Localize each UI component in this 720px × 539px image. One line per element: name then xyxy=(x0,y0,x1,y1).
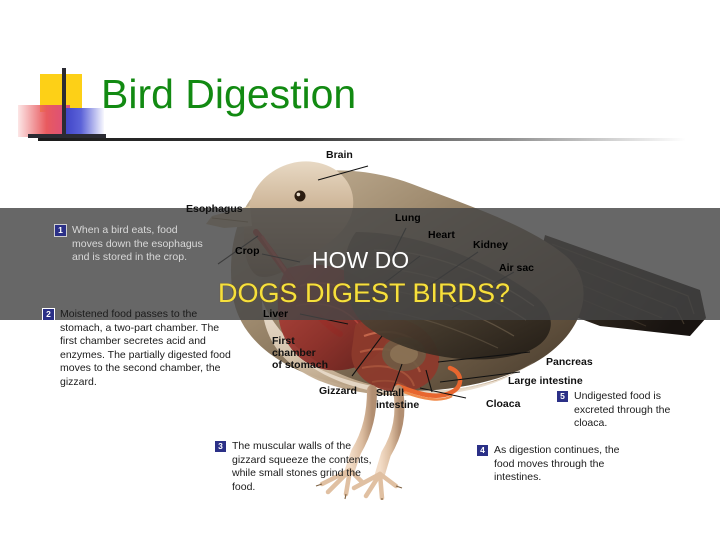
anatomy-label-heart: Heart xyxy=(428,229,455,241)
step-text-3: The muscular walls of the gizzard squeez… xyxy=(232,440,374,494)
step-text-5: Undigested food is excreted through the … xyxy=(574,390,696,431)
anatomy-label-esophagus: Esophagus xyxy=(186,203,243,215)
anatomy-label-air-sac: Air sac xyxy=(499,262,534,274)
anatomy-label-kidney: Kidney xyxy=(473,239,508,251)
anatomy-label-cloaca: Cloaca xyxy=(486,398,520,410)
step-number-badge-3: 3 xyxy=(214,440,227,453)
anatomy-label-liver: Liver xyxy=(263,308,288,320)
overlay-headline-line2: DOGS DIGEST BIRDS? xyxy=(218,278,510,308)
anatomy-label-first-chamber-of-stomach: First chamber of stomach xyxy=(272,335,328,371)
step-number-badge-1: 1 xyxy=(54,224,67,237)
anatomy-label-large-intestine: Large intestine xyxy=(508,375,583,387)
anatomy-label-lung: Lung xyxy=(395,212,421,224)
step-text-2: Moistened food passes to the stomach, a … xyxy=(60,308,232,389)
anatomy-label-gizzard: Gizzard xyxy=(319,385,357,397)
overlay-headline-line1: HOW DO xyxy=(312,247,409,273)
logo-vertical-line xyxy=(62,68,66,140)
step-item-2: 2 Moistened food passes to the stomach, … xyxy=(42,308,232,389)
step-item-5: 5 Undigested food is excreted through th… xyxy=(556,390,696,431)
step-text-4: As digestion continues, the food moves t… xyxy=(494,444,626,485)
step-number-badge-5: 5 xyxy=(556,390,569,403)
logo-blue-square xyxy=(62,108,104,135)
step-number-badge-2: 2 xyxy=(42,308,55,321)
corner-logo-mark xyxy=(18,68,100,140)
page-title: Bird Digestion xyxy=(101,70,356,118)
step-item-1: 1 When a bird eats, food moves down the … xyxy=(54,224,204,265)
anatomy-label-crop: Crop xyxy=(235,245,260,257)
step-item-3: 3 The muscular walls of the gizzard sque… xyxy=(214,440,374,494)
step-text-1: When a bird eats, food moves down the es… xyxy=(72,224,204,265)
step-item-4: 4 As digestion continues, the food moves… xyxy=(476,444,626,485)
anatomy-label-small-intestine: Small intestine xyxy=(376,387,419,411)
anatomy-label-pancreas: Pancreas xyxy=(546,356,593,368)
step-number-badge-4: 4 xyxy=(476,444,489,457)
anatomy-label-brain: Brain xyxy=(326,149,353,161)
slide-canvas: Bird Digestion xyxy=(0,0,720,539)
